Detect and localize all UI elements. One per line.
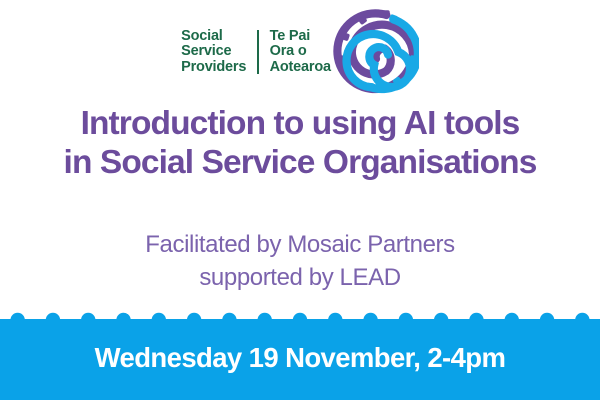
title-line-2: in Social Service Organisations: [0, 143, 600, 182]
organisation-logo: Social Service Providers Te Pai Ora o Ao…: [0, 6, 600, 98]
subtitle-line-2: supported by LEAD: [0, 261, 600, 294]
logo-wordmark: Social Service Providers Te Pai Ora o Ao…: [181, 29, 331, 76]
logo-wordmark-line: Providers: [181, 60, 246, 76]
logo-wordmark-line: Social: [181, 29, 246, 45]
logo-wordmark-maori: Te Pai Ora o Aotearoa: [259, 29, 331, 76]
event-date-text: Wednesday 19 November, 2-4pm: [0, 319, 600, 400]
subtitle-line-1: Facilitated by Mosaic Partners: [0, 228, 600, 261]
koru-spiral-icon: [333, 9, 419, 95]
event-poster: Social Service Providers Te Pai Ora o Ao…: [0, 0, 600, 400]
logo-wordmark-line: Ora o: [270, 44, 331, 60]
page-subtitle: Facilitated by Mosaic Partners supported…: [0, 228, 600, 294]
title-line-1: Introduction to using AI tools: [0, 104, 600, 143]
page-title: Introduction to using AI tools in Social…: [0, 104, 600, 182]
logo-wordmark-line: Service: [181, 44, 246, 60]
logo-wordmark-line: Aotearoa: [270, 60, 331, 76]
logo-wordmark-line: Te Pai: [270, 29, 331, 45]
logo-wordmark-english: Social Service Providers: [181, 29, 257, 76]
date-banner: Wednesday 19 November, 2-4pm: [0, 319, 600, 400]
